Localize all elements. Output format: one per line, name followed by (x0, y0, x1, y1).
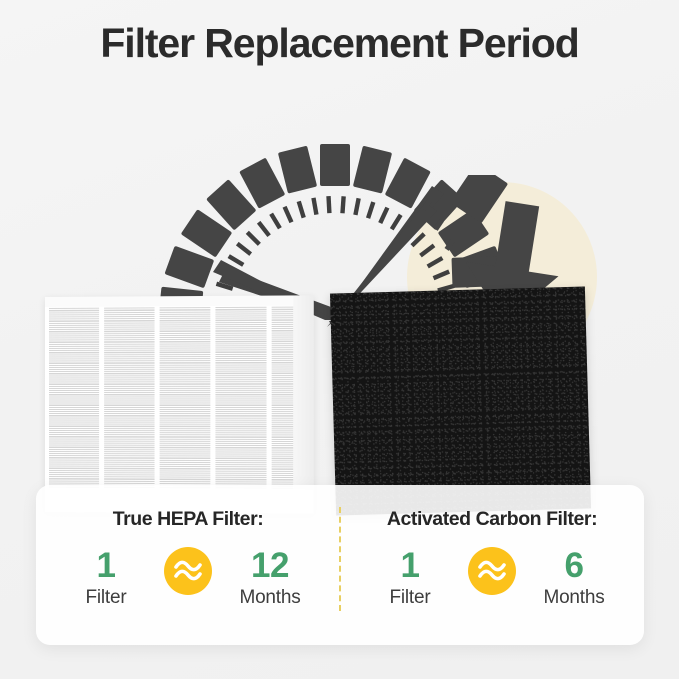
hepa-quantity-value: 1 (97, 548, 116, 583)
carbon-filter-body (330, 286, 591, 515)
carbon-metric-row: 1 Filter 6 Months (340, 547, 644, 609)
carbon-duration-label: Months (543, 587, 604, 609)
hepa-info-section: True HEPA Filter: 1 Filter 12 Months (36, 485, 340, 645)
carbon-duration-value: 6 (565, 548, 584, 583)
approximately-equal-icon (164, 547, 212, 595)
hepa-side-frame (293, 295, 314, 513)
hepa-quantity: 1 Filter (68, 548, 144, 609)
carbon-texture (330, 286, 591, 515)
carbon-quantity-value: 1 (401, 548, 420, 583)
product-infographic: Filter Replacement Period (0, 0, 679, 679)
hepa-duration: 12 Months (232, 548, 308, 609)
hepa-ribs (49, 304, 295, 492)
carbon-duration: 6 Months (536, 548, 612, 609)
hepa-heading: True HEPA Filter: (36, 508, 340, 531)
approximately-equal-icon (468, 547, 516, 595)
hepa-top-frame (45, 295, 314, 307)
carbon-heading: Activated Carbon Filter: (340, 508, 644, 531)
filter-period-card: True HEPA Filter: 1 Filter 12 Months (36, 485, 644, 645)
carbon-info-section: Activated Carbon Filter: 1 Filter 6 Mont… (340, 485, 644, 645)
card-divider (339, 507, 341, 611)
hepa-filter-body (45, 295, 314, 513)
carbon-quantity: 1 Filter (372, 548, 448, 609)
carbon-quantity-label: Filter (389, 587, 430, 609)
page-title: Filter Replacement Period (0, 20, 679, 67)
true-hepa-filter-panel (45, 297, 310, 512)
activated-carbon-filter-panel (330, 286, 591, 515)
hepa-duration-label: Months (239, 587, 300, 609)
hepa-duration-value: 12 (251, 548, 289, 583)
hepa-quantity-label: Filter (85, 587, 126, 609)
hepa-metric-row: 1 Filter 12 Months (36, 547, 340, 609)
